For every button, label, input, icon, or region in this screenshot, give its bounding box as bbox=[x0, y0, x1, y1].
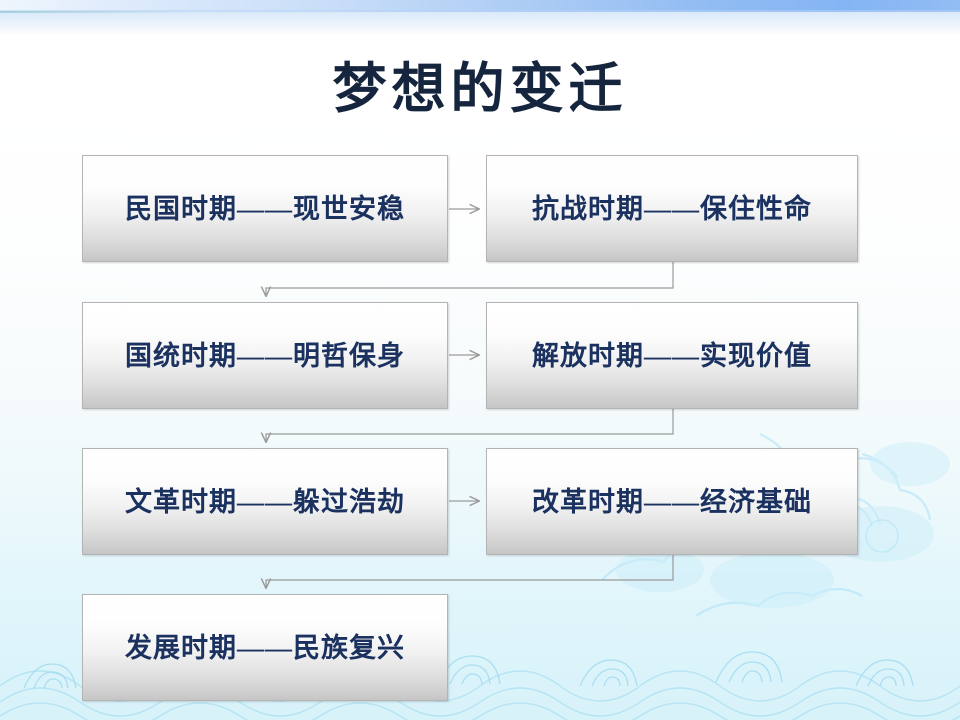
flow-box-label: 民国时期——现世安稳 bbox=[125, 192, 405, 226]
top-hairline-rule bbox=[0, 11, 370, 13]
flow-box-gaige[interactable]: 改革时期——经济基础 bbox=[486, 448, 858, 555]
arrow-jiefang-to-wenge bbox=[266, 409, 673, 442]
flow-box-label: 发展时期——民族复兴 bbox=[125, 631, 405, 665]
top-accent-fade bbox=[0, 10, 960, 36]
flow-box-label: 解放时期——实现价值 bbox=[532, 339, 812, 373]
flow-box-minguo[interactable]: 民国时期——现世安稳 bbox=[82, 155, 448, 262]
flow-box-jiefang[interactable]: 解放时期——实现价值 bbox=[486, 302, 858, 409]
flow-box-label: 国统时期——明哲保身 bbox=[125, 339, 405, 373]
arrow-gaige-to-fazhan bbox=[266, 555, 673, 588]
flow-box-fazhan[interactable]: 发展时期——民族复兴 bbox=[82, 594, 448, 701]
slide-canvas: 梦想的变迁 bbox=[0, 0, 960, 720]
flow-box-kangzhan[interactable]: 抗战时期——保住性命 bbox=[486, 155, 858, 262]
flow-box-label: 抗战时期——保住性命 bbox=[532, 192, 812, 226]
arrow-kangzhan-to-guotong bbox=[266, 262, 673, 296]
flow-box-wenge[interactable]: 文革时期——躲过浩劫 bbox=[82, 448, 448, 555]
flow-box-label: 文革时期——躲过浩劫 bbox=[125, 485, 405, 519]
flow-box-label: 改革时期——经济基础 bbox=[532, 485, 812, 519]
page-title: 梦想的变迁 bbox=[0, 58, 960, 120]
flow-box-guotong[interactable]: 国统时期——明哲保身 bbox=[82, 302, 448, 409]
